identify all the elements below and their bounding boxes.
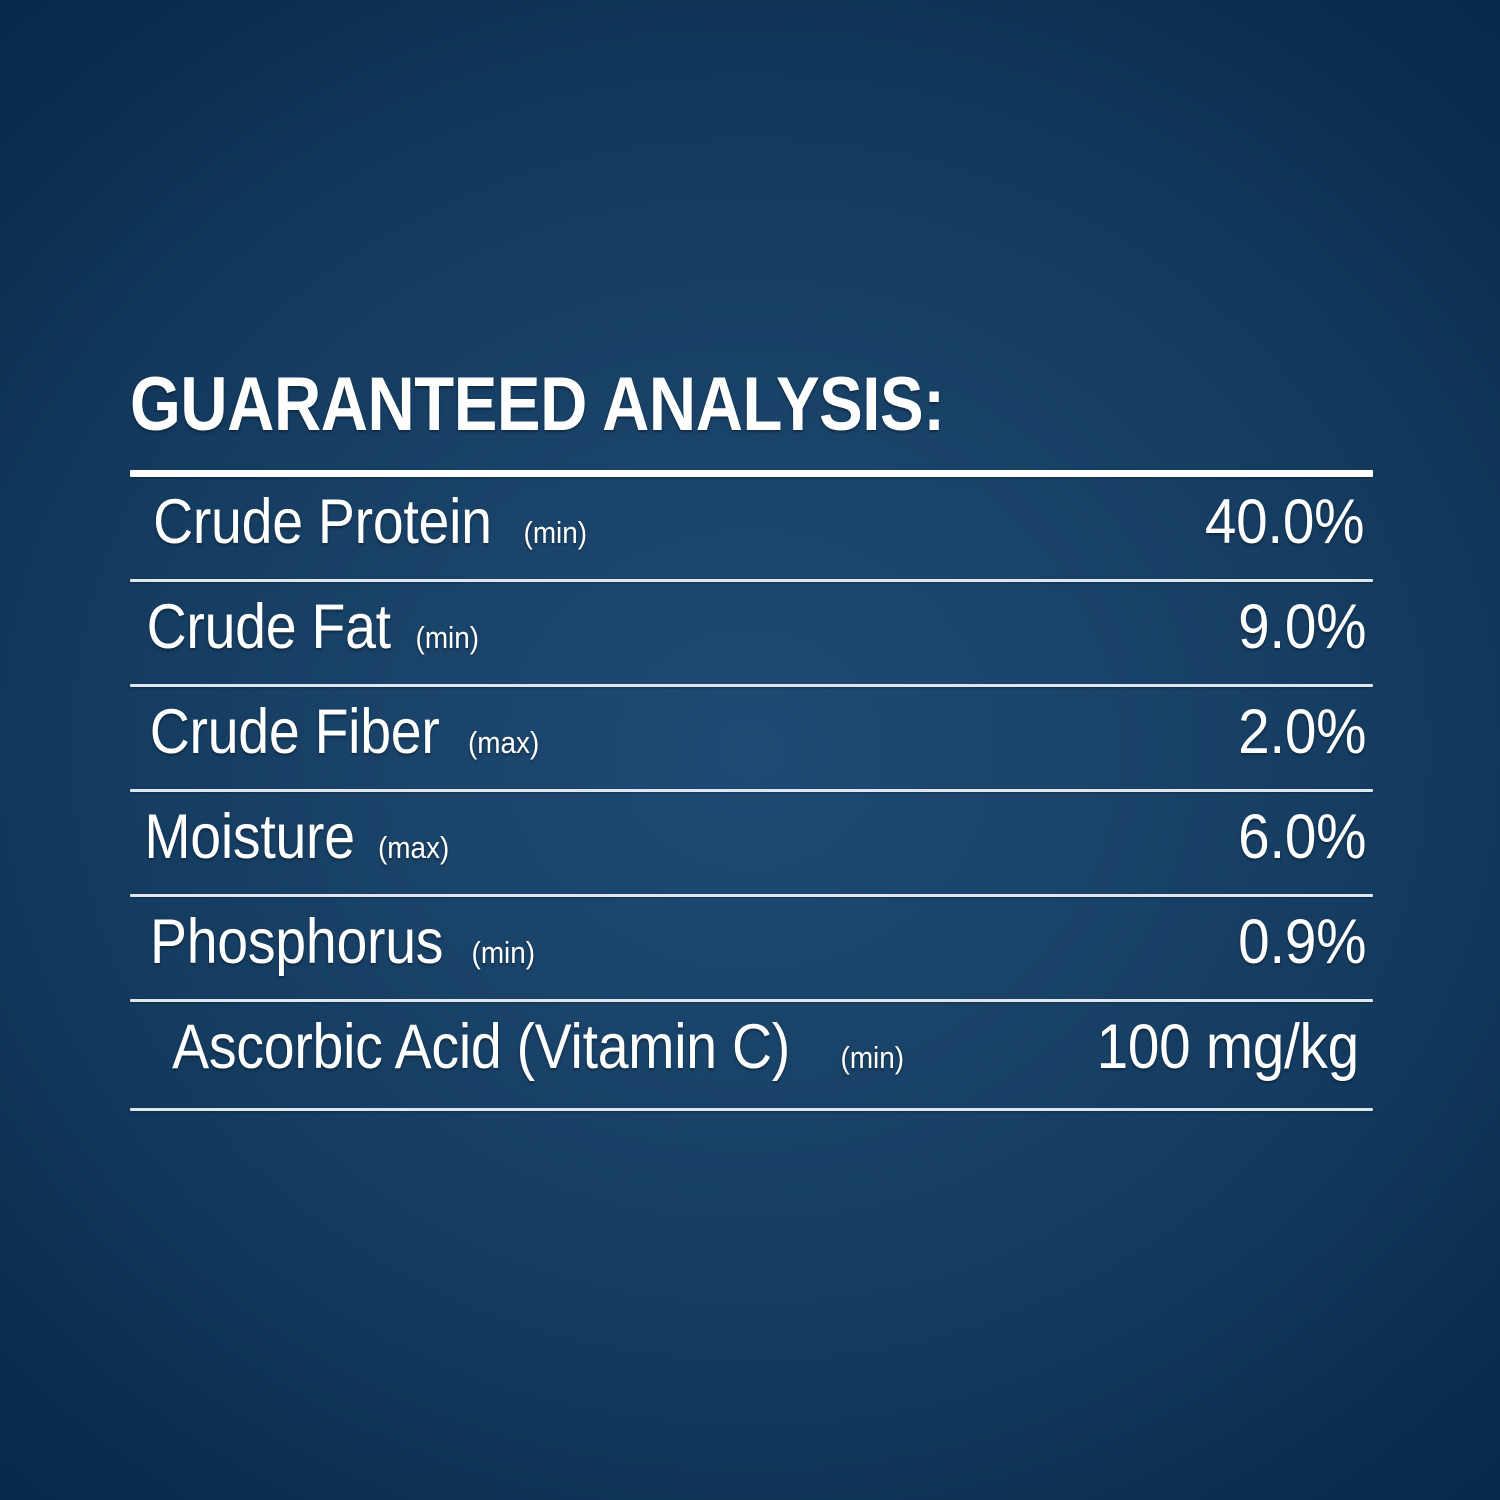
nutrient-qualifier: (min) [841,1042,905,1073]
nutrient-value: 100 mg/kg [1096,1016,1358,1079]
row-label: Crude Fiber (max) [130,701,544,764]
table-row: Moisture (max) 6.0% [130,792,1373,894]
row-label: Ascorbic Acid (Vitamin C) (min) [130,1016,908,1079]
table-row: Crude Fat (min) 9.0% [130,582,1373,684]
table-row: Crude Fiber (max) 2.0% [130,687,1373,789]
nutrient-value: 9.0% [1238,596,1366,659]
row-label: Crude Protein (min) [130,491,590,554]
nutrient-name: Phosphorus [150,911,443,974]
row-label: Phosphorus (min) [130,911,539,974]
nutrient-qualifier: (max) [378,832,449,863]
nutrient-qualifier: (min) [472,937,536,968]
nutrient-value: 6.0% [1238,806,1366,869]
table-row: Ascorbic Acid (Vitamin C) (min) 100 mg/k… [130,1002,1373,1108]
guaranteed-analysis-panel: GUARANTEED ANALYSIS: Crude Protein (min)… [0,0,1500,1500]
nutrient-name: Crude Fat [147,596,391,659]
row-label: Crude Fat (min) [130,596,483,659]
nutrient-name: Ascorbic Acid (Vitamin C) [172,1016,790,1079]
nutrient-value: 40.0% [1205,491,1364,554]
nutrient-qualifier: (max) [468,727,539,758]
nutrient-name: Crude Fiber [150,701,440,764]
header-rule [130,470,1373,477]
page-title: GUARANTEED ANALYSIS: [130,370,1199,440]
nutrient-qualifier: (min) [523,517,587,548]
nutrient-qualifier: (min) [416,622,480,653]
nutrient-value: 0.9% [1238,911,1366,974]
guaranteed-analysis-table: GUARANTEED ANALYSIS: Crude Protein (min)… [130,370,1373,1111]
row-divider [130,1108,1373,1111]
nutrient-name: Moisture [144,806,354,869]
row-label: Moisture (max) [130,806,453,869]
nutrient-value: 2.0% [1238,701,1366,764]
table-row: Crude Protein (min) 40.0% [130,477,1373,579]
table-row: Phosphorus (min) 0.9% [130,897,1373,999]
nutrient-name: Crude Protein [153,491,492,554]
